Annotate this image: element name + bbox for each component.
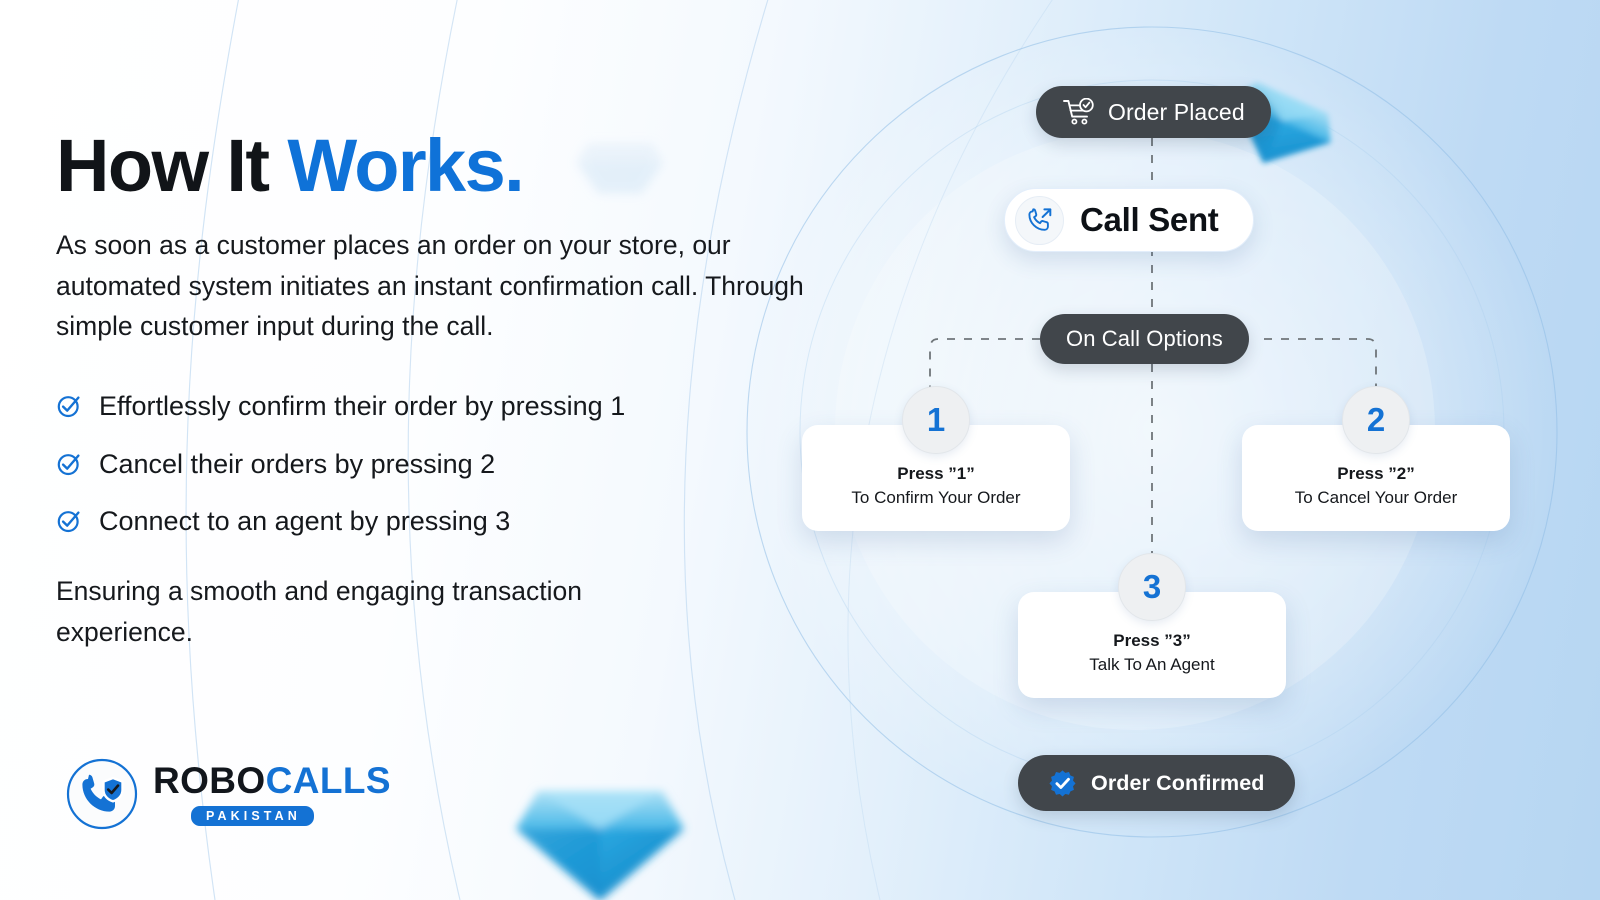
list-item: Connect to an agent by pressing 3 [56,505,846,537]
logo-name-dark: ROBO [153,760,266,801]
logo-wordmark: ROBOCALLS PAKISTAN [153,762,391,826]
call-sent-pill[interactable]: Call Sent [1004,188,1254,252]
list-item: Effortlessly confirm their order by pres… [56,390,846,422]
call-sent-icon-circle [1015,196,1064,245]
page-title-accent: Works. [287,124,523,207]
bullet-label: Effortlessly confirm their order by pres… [99,390,625,422]
outro-paragraph: Ensuring a smooth and engaging transacti… [56,571,716,652]
option-badge-3: 3 [1118,553,1186,621]
check-circle-icon [56,508,82,534]
feature-bullet-list: Effortlessly confirm their order by pres… [56,390,846,537]
verified-badge-check-icon [1048,769,1077,798]
on-call-options-pill[interactable]: On Call Options [1040,314,1249,364]
option-card-2[interactable]: 2 Press ”2” To Cancel Your Order [1242,425,1510,531]
page-title: How It Works. [56,128,846,203]
order-confirmed-pill[interactable]: Order Confirmed [1018,755,1295,811]
order-placed-label: Order Placed [1108,99,1245,126]
cart-check-icon [1062,98,1095,127]
option-badge-2: 2 [1342,386,1410,454]
logo-name: ROBOCALLS [153,762,391,799]
phone-shield-check-icon [66,758,138,830]
intro-paragraph: As soon as a customer places an order on… [56,225,826,346]
outgoing-call-icon [1025,205,1055,235]
diamond-gem-bottom-center [516,791,684,900]
bullet-label: Connect to an agent by pressing 3 [99,505,510,537]
bullet-label: Cancel their orders by pressing 2 [99,448,495,480]
left-content-panel: How It Works. As soon as a customer plac… [56,128,846,652]
order-placed-pill[interactable]: Order Placed [1036,86,1271,138]
option-2-line2: To Cancel Your Order [1295,486,1458,511]
page-title-plain: How It [56,124,287,207]
node-order-confirmed[interactable]: Order Confirmed [1018,755,1295,811]
brand-logo: ROBOCALLS PAKISTAN [66,758,391,830]
option-1-line2: To Confirm Your Order [851,486,1020,511]
call-sent-label: Call Sent [1080,201,1219,239]
option-badge-1: 1 [902,386,970,454]
infographic-canvas: How It Works. As soon as a customer plac… [0,0,1600,900]
option-2-line1: Press ”2” [1337,463,1415,486]
check-circle-icon [56,451,82,477]
on-call-options-label: On Call Options [1066,326,1223,352]
order-flow-diagram: Order Placed Call Sent On Call Options [760,0,1600,900]
node-call-sent[interactable]: Call Sent [1004,188,1254,252]
option-card-3[interactable]: 3 Press ”3” Talk To An Agent [1018,592,1286,698]
option-3-line1: Press ”3” [1113,630,1191,653]
order-confirmed-label: Order Confirmed [1091,771,1265,796]
node-order-placed[interactable]: Order Placed [1036,86,1271,138]
check-circle-icon [56,393,82,419]
option-3-line2: Talk To An Agent [1089,653,1214,678]
logo-tagline: PAKISTAN [191,806,314,826]
option-card-1[interactable]: 1 Press ”1” To Confirm Your Order [802,425,1070,531]
node-on-call-options[interactable]: On Call Options [1040,314,1249,364]
logo-name-blue: CALLS [266,760,391,801]
option-1-line1: Press ”1” [897,463,975,486]
list-item: Cancel their orders by pressing 2 [56,448,846,480]
